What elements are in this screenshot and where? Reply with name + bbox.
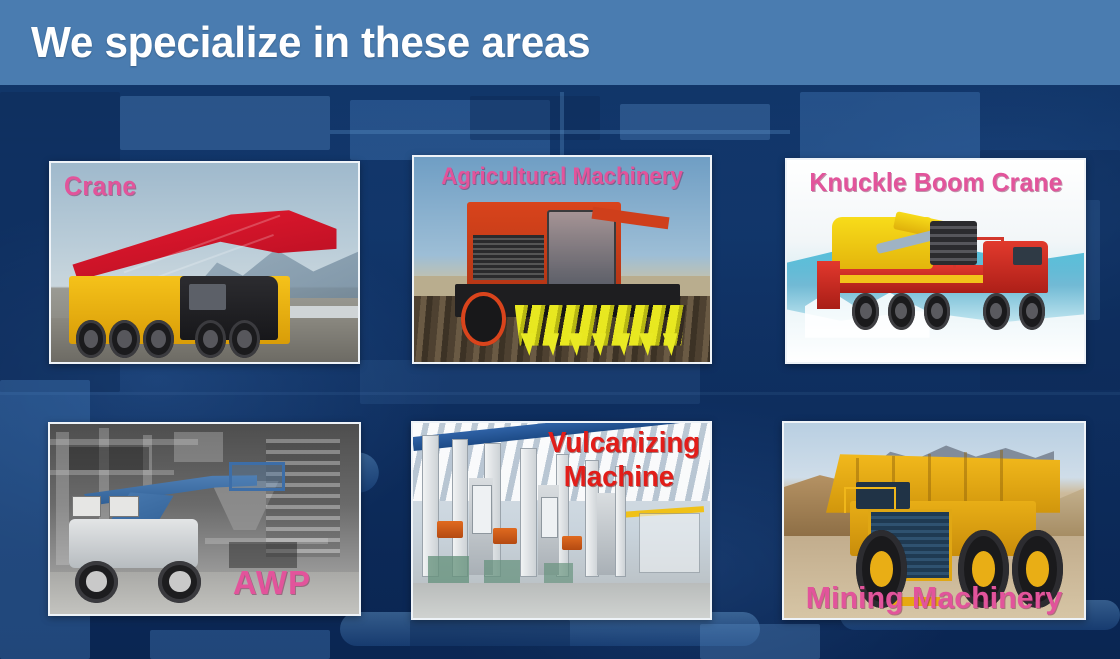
- tile-label-crane: Crane: [64, 173, 137, 201]
- tile-label-mining-machinery: Mining Machinery: [806, 582, 1063, 614]
- tile-knuckle-boom-crane[interactable]: Knuckle Boom Crane: [785, 158, 1086, 364]
- tile-label-awp: AWP: [233, 566, 311, 600]
- tile-label-agricultural-machinery: Agricultural Machinery: [441, 165, 683, 189]
- tile-label-knuckle-boom-crane: Knuckle Boom Crane: [809, 169, 1062, 196]
- tile-crane[interactable]: Crane: [49, 161, 360, 364]
- tile-agricultural-machinery[interactable]: Agricultural Machinery: [412, 155, 712, 364]
- awp-photo: [50, 424, 359, 614]
- tile-label-vulcanizing-machine-line2: Machine: [564, 463, 674, 493]
- tile-awp[interactable]: AWP: [48, 422, 361, 616]
- tile-label-vulcanizing-machine-line1: Vulcanizing: [548, 429, 700, 459]
- tile-vulcanizing-machine[interactable]: Vulcanizing Machine: [411, 421, 712, 620]
- slide-root: We specialize in these areas: [0, 0, 1120, 659]
- tile-grid: Crane Agric: [0, 0, 1120, 659]
- tile-mining-machinery[interactable]: Mining Machinery: [782, 421, 1086, 620]
